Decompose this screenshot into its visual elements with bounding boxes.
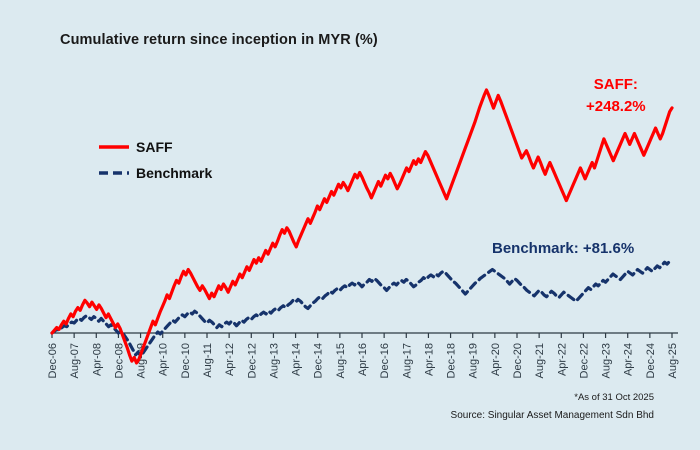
x-axis-tick-label: Dec-14 [313,343,325,378]
legend-item-benchmark: Benchmark [98,160,212,186]
x-axis-tick-label: Dec-22 [578,343,590,378]
x-axis-tick-label: Apr-16 [357,343,369,376]
x-axis-tick-label: Aug-23 [601,343,613,378]
footnote-as-of: *As of 31 Oct 2025 [574,392,654,403]
footnote-source: Source: Singular Asset Management Sdn Bh… [451,410,654,421]
x-axis-tick-label: Aug-11 [202,343,214,378]
line-dashed-icon [98,166,130,180]
x-axis-tick-label: Aug-19 [468,343,480,378]
x-axis-tick-label: Aug-07 [69,343,81,378]
x-axis-tick-label: Aug-17 [401,343,413,378]
series-line-saff [52,90,672,363]
x-axis-tick-label: Dec-08 [113,343,125,378]
x-axis-tick-label: Aug-15 [335,343,347,378]
annotation-benchmark-return: Benchmark: +81.6% [492,240,634,257]
x-axis-ticks [52,333,672,338]
x-axis-tick-label: Dec-06 [47,343,59,378]
annotation-saff-line1: SAFF: [586,74,646,96]
x-axis-tick-label: Apr-08 [91,343,103,376]
chart-plot-area: Dec-06Aug-07Apr-08Dec-08Aug-09Apr-10Dec-… [0,0,700,450]
line-solid-icon [98,140,130,154]
x-axis-tick-label: Apr-12 [224,343,236,376]
chart-root: Cumulative return since inception in MYR… [0,0,700,450]
annotation-saff-return: SAFF: +248.2% [586,74,646,118]
x-axis-tick-label: Apr-10 [158,343,170,376]
x-axis-tick-label: Aug-25 [667,343,679,378]
chart-legend: SAFF Benchmark [98,134,212,186]
legend-label-benchmark: Benchmark [136,165,212,181]
x-axis-tick-label: Apr-18 [423,343,435,376]
x-axis-tick-label: Aug-13 [268,343,280,378]
x-axis-tick-label: Dec-10 [180,343,192,378]
x-axis-tick-label: Aug-21 [534,343,546,378]
x-axis-tick-label: Apr-14 [291,343,303,376]
x-axis-tick-label: Dec-24 [645,343,657,378]
legend-label-saff: SAFF [136,139,173,155]
x-axis-tick-label: Dec-20 [512,343,524,378]
x-axis-tick-label: Apr-20 [490,343,502,376]
x-axis-tick-label: Dec-16 [379,343,391,378]
x-axis-tick-label: Apr-22 [556,343,568,376]
x-axis-tick-label: Dec-12 [246,343,258,378]
annotation-saff-line2: +248.2% [586,96,646,118]
x-axis-tick-label: Apr-24 [623,343,635,376]
x-axis-tick-label: Dec-18 [446,343,458,378]
legend-item-saff: SAFF [98,134,212,160]
